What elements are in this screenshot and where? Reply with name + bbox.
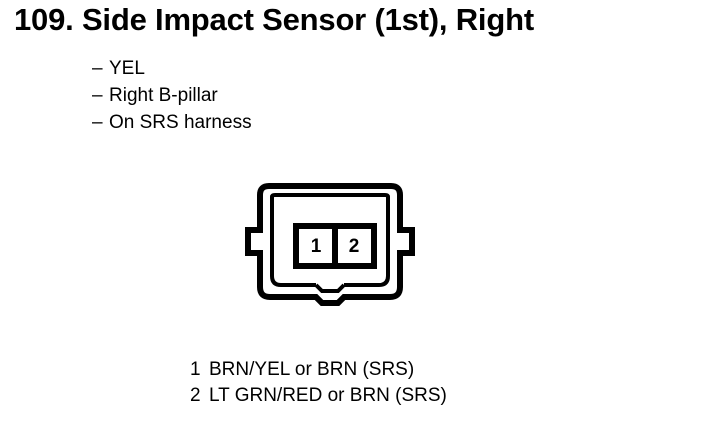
spec-list: –YEL –Right B-pillar –On SRS harness <box>92 55 492 136</box>
dash-icon: – <box>92 82 109 109</box>
connector-bottom-notch <box>316 285 344 291</box>
pin-legend-row: 1BRN/YEL or BRN (SRS) <box>190 357 610 383</box>
dash-icon: – <box>92 109 109 136</box>
spec-list-item: –On SRS harness <box>92 109 492 136</box>
cavity-label-2: 2 <box>349 236 360 257</box>
pin-legend-number: 1 <box>190 357 209 383</box>
connector-svg: 1 2 <box>232 175 437 320</box>
page-title: 109. Side Impact Sensor (1st), Right <box>14 2 690 38</box>
connector-diagram: 1 2 <box>232 175 437 320</box>
spec-list-item-label: On SRS harness <box>109 112 252 133</box>
spec-list-item: –Right B-pillar <box>92 82 492 109</box>
pin-legend-circuit: BRN/YEL or BRN (SRS) <box>209 359 414 380</box>
spec-list-item: –YEL <box>92 55 492 82</box>
pin-legend-circuit: LT GRN/RED or BRN (SRS) <box>209 385 447 406</box>
pin-legend-row: 2LT GRN/RED or BRN (SRS) <box>190 383 610 409</box>
spec-list-item-label: YEL <box>109 58 145 79</box>
pin-legend-number: 2 <box>190 383 209 409</box>
spec-list-item-label: Right B-pillar <box>109 85 218 106</box>
pin-legend: 1BRN/YEL or BRN (SRS) 2LT GRN/RED or BRN… <box>190 357 610 409</box>
connector-inner-shell <box>272 195 388 204</box>
dash-icon: – <box>92 55 109 82</box>
cavity-label-1: 1 <box>311 236 322 257</box>
